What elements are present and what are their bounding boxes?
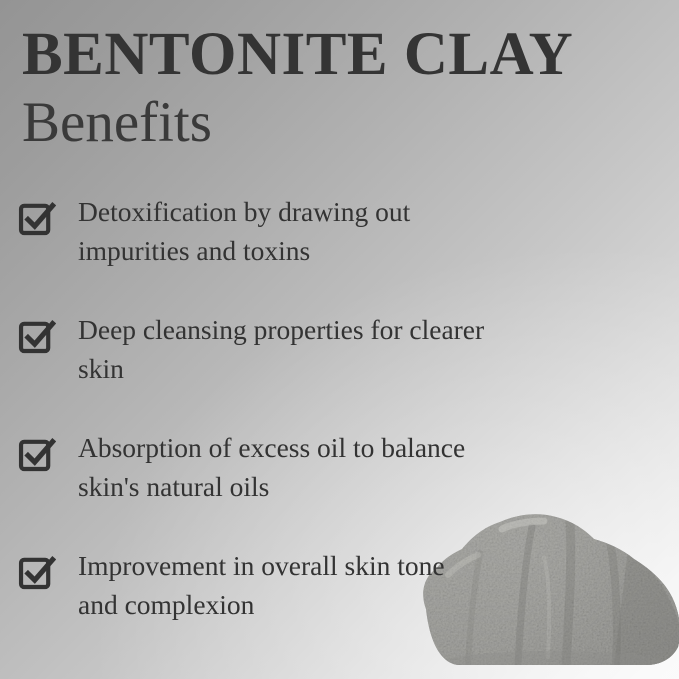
- page-title: BENTONITE CLAY: [22, 24, 573, 85]
- list-item: Improvement in overall skin tone and com…: [18, 546, 488, 624]
- checked-checkbox-icon: [18, 553, 56, 591]
- list-item: Detoxification by drawing out impurities…: [18, 192, 488, 270]
- bentonite-clay-benefits-poster: BENTONITE CLAY Benefits Detoxification b…: [0, 0, 679, 679]
- benefits-list: Detoxification by drawing out impurities…: [18, 192, 488, 624]
- checked-checkbox-icon: [18, 317, 56, 355]
- checked-checkbox-icon: [18, 435, 56, 473]
- list-item: Absorption of excess oil to balance skin…: [18, 428, 488, 506]
- list-item: Deep cleansing properties for clearer sk…: [18, 310, 488, 388]
- page-subtitle: Benefits: [22, 93, 573, 153]
- list-item-label: Improvement in overall skin tone and com…: [78, 546, 488, 624]
- list-item-label: Deep cleansing properties for clearer sk…: [78, 310, 488, 388]
- list-item-label: Absorption of excess oil to balance skin…: [78, 428, 488, 506]
- list-item-label: Detoxification by drawing out impurities…: [78, 192, 488, 270]
- heading-block: BENTONITE CLAY Benefits: [22, 24, 573, 153]
- checked-checkbox-icon: [18, 199, 56, 237]
